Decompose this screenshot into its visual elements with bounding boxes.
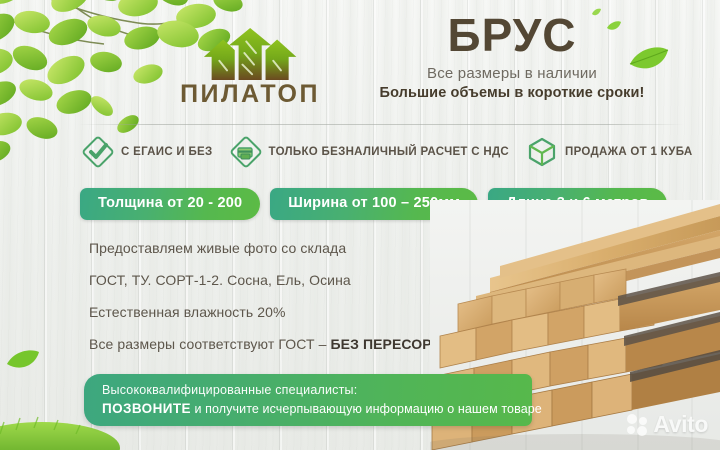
headline-subtitle: Все размеры в наличии	[362, 65, 662, 82]
page-title: БРУС	[362, 14, 662, 58]
brand-name: ПИЛАТОП	[160, 82, 340, 107]
detail-line-photos: Предоставляем живые фото со склада	[89, 240, 419, 256]
feature-item-payment: Только безналичный расчет с НДС	[230, 136, 510, 168]
feature-label-payment: Только безналичный расчет с НДС	[269, 146, 510, 158]
header-divider	[78, 124, 684, 125]
headline-block: БРУС Все размеры в наличии Большие объем…	[362, 14, 662, 101]
credit-card-diamond-icon	[230, 136, 262, 168]
detail-line-gost: Все размеры соответствуют ГОСТ – БЕЗ ПЕР…	[89, 336, 419, 352]
headline-tagline: Большие объемы в короткие сроки!	[362, 85, 662, 101]
cta-line-call: ПОЗВОНИТЕ и получите исчерпывающую инфор…	[102, 401, 516, 416]
cta-banner[interactable]: Высококвалифицированные специалисты: ПОЗ…	[84, 374, 532, 426]
feature-label-egais: С ЕГАИС и БЕЗ	[121, 146, 213, 158]
feature-row: С ЕГАИС и БЕЗ Только безналичный расчет …	[82, 136, 682, 168]
spec-pill-thickness: Толщина от 20 - 200	[80, 188, 260, 220]
details-list: Предоставляем живые фото со склада ГОСТ,…	[89, 240, 419, 352]
detail-line-standards: ГОСТ, ТУ. СОРТ-1-2. Сосна, Ель, Осина	[89, 272, 419, 288]
timber-house-arrows-icon	[202, 28, 298, 80]
advertisement-poster: ПИЛАТОП БРУС Все размеры в наличии Больш…	[0, 0, 720, 450]
feature-item-cube: Продажа от 1 куба	[526, 136, 692, 168]
brand-logo: ПИЛАТОП	[160, 28, 340, 107]
feature-item-egais: С ЕГАИС и БЕЗ	[82, 136, 213, 168]
detail-gost-text: Все размеры соответствуют ГОСТ –	[89, 336, 330, 352]
feature-label-cube: Продажа от 1 куба	[565, 146, 692, 158]
detail-line-moisture: Естественная влажность 20%	[89, 304, 419, 320]
cube-box-icon	[526, 136, 558, 168]
cta-call-word: ПОЗВОНИТЕ	[102, 401, 191, 416]
cta-line-specialists: Высококвалифицированные специалисты:	[102, 383, 516, 397]
cta-call-rest: и получите исчерпывающую информацию о на…	[191, 402, 542, 416]
check-diamond-icon	[82, 136, 114, 168]
